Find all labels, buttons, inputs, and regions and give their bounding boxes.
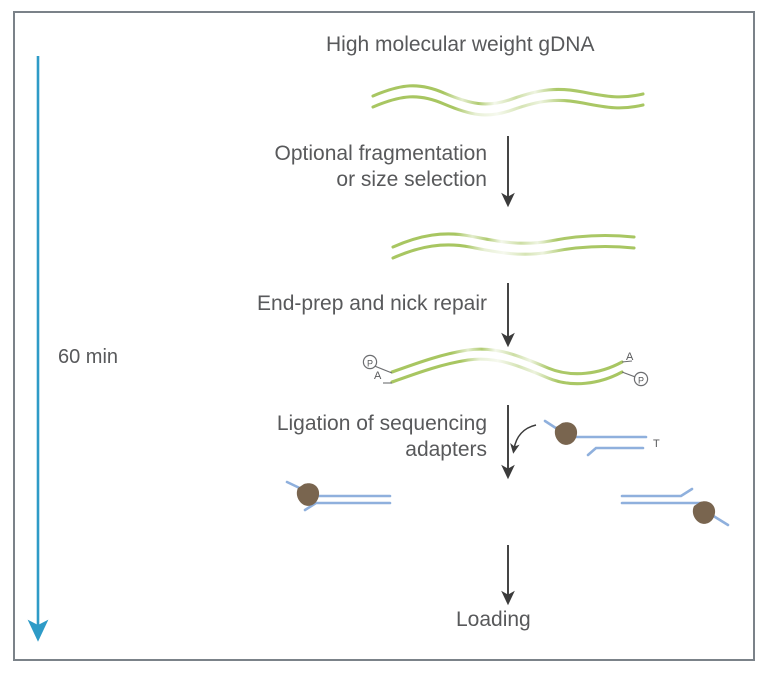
step-label-ligation: Ligation of sequencing adapters <box>165 411 487 462</box>
figure-canvas: P P <box>0 0 776 676</box>
step-label-endprep: End-prep and nick repair <box>165 291 487 317</box>
adenine-label-right: A <box>626 352 633 363</box>
step-label-fragmentation: Optional fragmentation or size selection <box>165 141 487 192</box>
thymine-overhang-label: T <box>653 439 660 450</box>
adenine-label-left: A <box>374 371 381 382</box>
timeline-duration-label: 60 min <box>58 345 118 369</box>
figure-frame <box>13 11 755 661</box>
page-title: High molecular weight gDNA <box>326 32 726 58</box>
step-label-loading: Loading <box>456 607 531 633</box>
